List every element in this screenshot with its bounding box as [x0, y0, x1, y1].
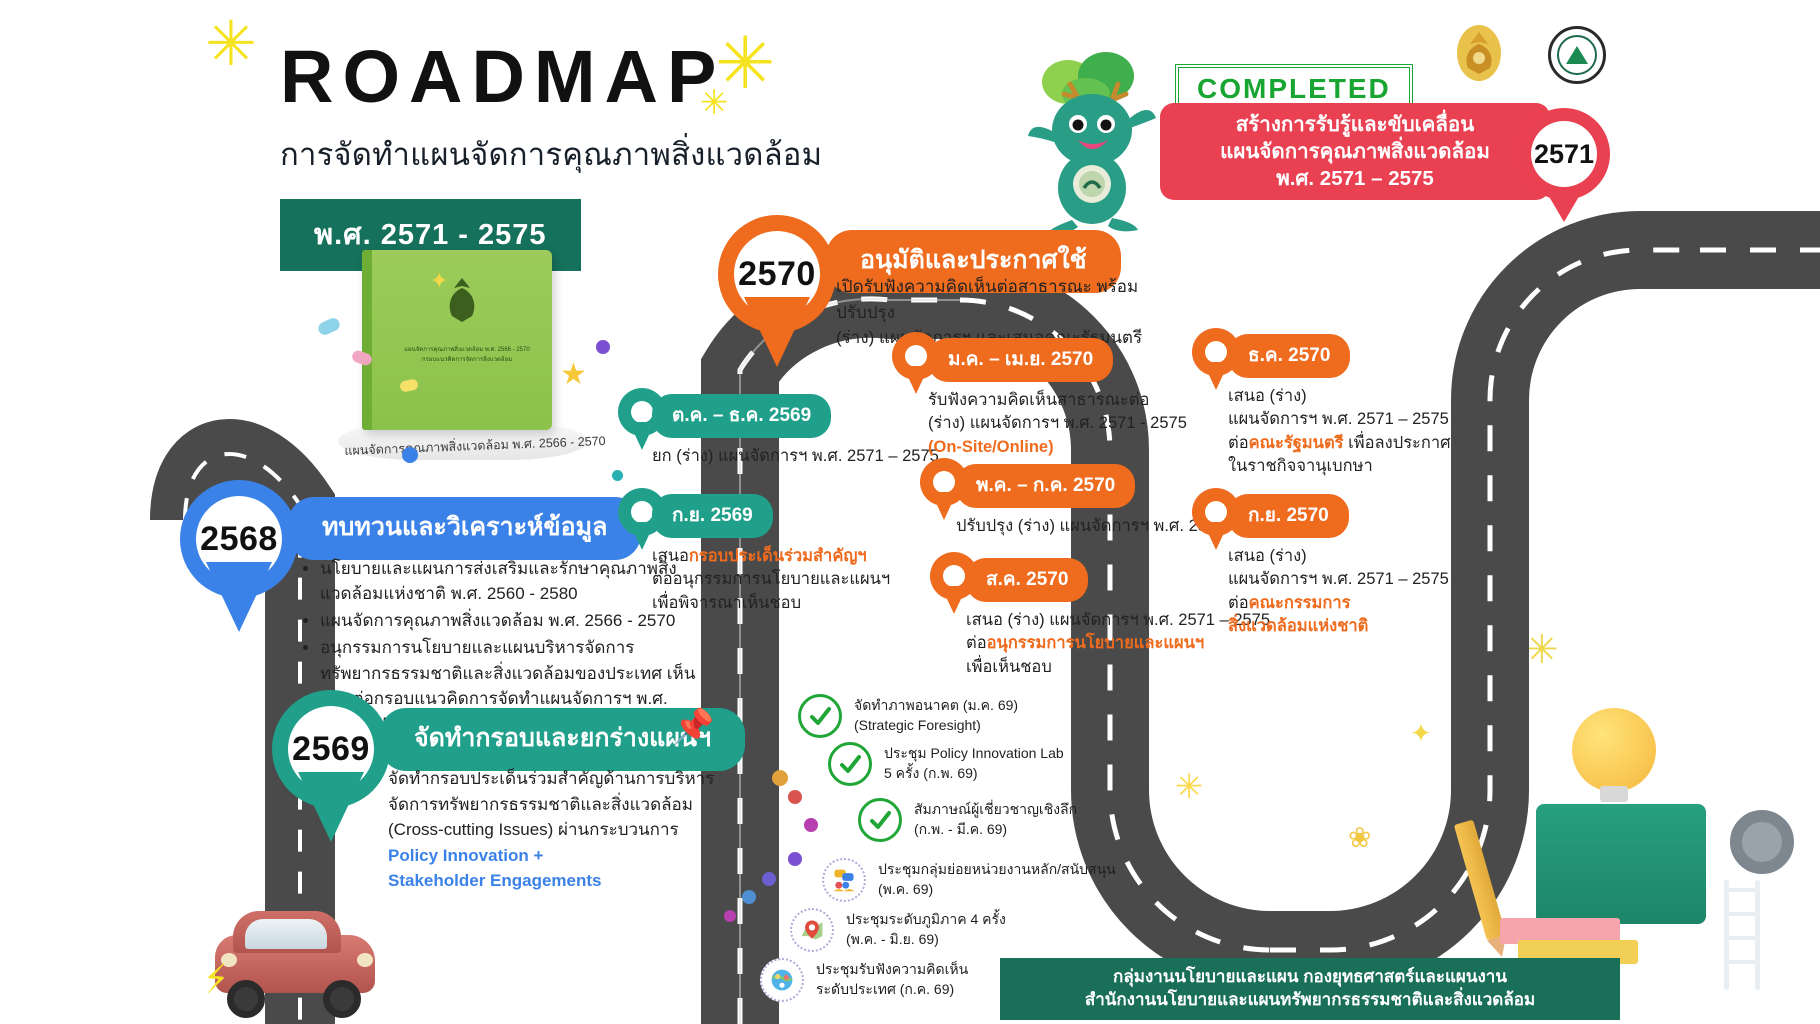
confetti-dot [724, 910, 736, 922]
checklist-line1: ประชุมรับฟังความคิดเห็น [816, 960, 968, 980]
garuda-seal-icon [1448, 22, 1510, 84]
checklist-line2: (พ.ค. - มิ.ย. 69) [846, 930, 1006, 950]
globe-people-icon [760, 958, 804, 1002]
list-item: แผนจัดการคุณภาพสิ่งแวดล้อม พ.ศ. 2566 - 2… [320, 608, 700, 633]
checklist-line2: (ก.พ. - มี.ค. 69) [914, 820, 1077, 840]
milestone-line: รับฟังความคิดเห็นสาธารณะต่อ [928, 389, 1228, 412]
year-2569-body-line1: จัดทำกรอบประเด็นร่วมสำคัญด้านการบริหาร [388, 766, 718, 792]
milestone-line: แผนจัดการฯ พ.ศ. 2571 – 2575 [1228, 408, 1488, 431]
checklist-line2: (Strategic Foresight) [854, 716, 1018, 736]
map-pin-icon [790, 908, 834, 952]
milestone-line-highlight: (On-Site/Online) [928, 436, 1228, 459]
milestone-chip: ส.ค. 2570 [966, 558, 1088, 602]
milestone-chip: ต.ค. – ธ.ค. 2569 [652, 394, 831, 438]
year-2569-highlight1: Policy Innovation + [388, 843, 718, 869]
lightbulb-icon [1572, 708, 1656, 792]
milestone-line: ต่อ [966, 634, 987, 652]
pin-2571: 2571 [1518, 108, 1610, 200]
milestone-line: เสนอ [652, 547, 689, 565]
milestone-line: เสนอ (ร่าง) [1228, 545, 1478, 568]
check-icon [828, 742, 872, 786]
confetti-dot [742, 890, 756, 904]
footer-line2: สำนักงานนโยบายและแผนทรัพยากรธรรมชาติและส… [1085, 989, 1535, 1012]
star-icon: ✦ [430, 270, 448, 292]
book-cover-text: แผนจัดการคุณภาพสิ่งแวดล้อม พ.ศ. 2566 - 2… [400, 346, 534, 365]
milestone-chip: ม.ค. – เม.ย. 2570 [928, 338, 1113, 382]
milestone-line-highlight: อนุกรรมการนโยบายและแผนฯ [987, 634, 1205, 652]
checklist-line1: ประชุมระดับภูมิภาค 4 ครั้ง [846, 910, 1006, 930]
car-icon: ⚡ [205, 905, 390, 1020]
confetti-dot [788, 852, 802, 866]
milestone-line: ต่อ [1228, 594, 1249, 612]
book-cover: แผนจัดการคุณภาพสิ่งแวดล้อม พ.ศ. 2566 - 2… [362, 250, 552, 430]
milestone-line: แผนจัดการฯ พ.ศ. 2571 – 2575 [1228, 568, 1478, 591]
footer-bar: กลุ่มงานนโยบายและแผน กองยุทธศาสตร์และแผน… [1000, 958, 1620, 1020]
checklist-line2: ระดับประเทศ (ก.ค. 69) [816, 980, 968, 1000]
checklist-line1: จัดทำภาพอนาคต (ม.ค. 69) [854, 696, 1018, 716]
milestone-chip: ก.ย. 2570 [1228, 494, 1349, 538]
milestone-chip: พ.ค. – ก.ค. 2570 [956, 464, 1135, 508]
mascot-icon [1020, 48, 1160, 233]
year-2570-body-line1: เปิดรับฟังความคิดเห็นต่อสาธารณะ พร้อมปรั… [836, 274, 1176, 325]
checklist-item: ประชุมระดับภูมิภาค 4 ครั้ง (พ.ค. - มิ.ย.… [790, 908, 1006, 952]
page-subtitle: การจัดทำแผนจัดการคุณภาพสิ่งแวดล้อม [280, 129, 822, 179]
footer-line1: กลุ่มงานนโยบายและแผน กองยุทธศาสตร์และแผน… [1113, 966, 1507, 989]
flower-icon: ❀ [1348, 824, 1371, 852]
year-2569-body-line3: (Cross-cutting Issues) ผ่านกระบวนการ [388, 817, 718, 843]
banner-2571-line2: แผนจัดการคุณภาพสิ่งแวดล้อม [1220, 138, 1490, 165]
onep-seal-icon [1548, 26, 1606, 84]
confetti-dot [596, 340, 610, 354]
stationery-illustration [1440, 700, 1800, 1000]
ladder-icon [1724, 880, 1760, 990]
milestone-chip: ก.ย. 2569 [652, 494, 773, 538]
checklist-item: สัมภาษณ์ผู้เชี่ยวชาญเชิงลึก (ก.พ. - มี.ค… [858, 798, 1077, 842]
pencil-icon [1454, 820, 1506, 941]
milestone-line: ต่อ [1228, 434, 1249, 452]
list-item: นโยบายและแผนการส่งเสริมและรักษาคุณภาพสิ่… [320, 556, 700, 606]
green-box [1536, 804, 1706, 924]
pin-2571-year: 2571 [1531, 121, 1597, 187]
milestone-line-highlight: สิ่งแวดล้อมแห่งชาติ [1228, 615, 1478, 638]
star-icon: ★ [560, 360, 587, 390]
sparkle-icon: ✦ [1410, 720, 1432, 746]
confetti-dot [612, 470, 623, 481]
milestone-line: ต่ออนุกรรมการนโยบายและแผนฯ [652, 568, 912, 591]
confetti-dot [402, 447, 418, 463]
pushpin-icon: 📌 [672, 710, 714, 744]
check-icon [858, 798, 902, 842]
book-illustration: แผนจัดการคุณภาพสิ่งแวดล้อม พ.ศ. 2566 - 2… [330, 240, 620, 470]
year-2569-body: จัดทำกรอบประเด็นร่วมสำคัญด้านการบริหาร จ… [388, 766, 718, 894]
year-pin-2568: 2568 [180, 480, 298, 598]
banner-2571-line1: สร้างการรับรู้และขับเคลื่อน [1236, 111, 1474, 138]
checklist-line2: 5 ครั้ง (ก.พ. 69) [884, 764, 1064, 784]
milestone-dec-2570: ธ.ค. 2570 เสนอ (ร่าง) แผนจัดการฯ พ.ศ. 25… [1228, 334, 1488, 479]
milestone-line: เพื่อเห็นชอบ [966, 656, 1296, 679]
milestone-line-highlight: คณะรัฐมนตรี [1249, 434, 1344, 452]
checklist-item: จัดทำภาพอนาคต (ม.ค. 69) (Strategic Fores… [798, 694, 1018, 738]
milestone-line: เสนอ (ร่าง) [1228, 385, 1488, 408]
milestone-sep-2569: ก.ย. 2569 เสนอกรอบประเด็นร่วมสำคัญฯ ต่ออ… [652, 494, 912, 615]
gear-icon [1730, 810, 1794, 874]
year-2569-highlight2: Stakeholder Engagements [388, 868, 718, 894]
page-title: ROADMAP [280, 34, 822, 119]
year-2568-chip: ทบทวนและวิเคราะห์ข้อมูล [288, 497, 641, 560]
milestone-line-highlight: คณะกรรมการ [1249, 594, 1351, 612]
checklist-line1: ประชุม Policy Innovation Lab [884, 744, 1064, 764]
confetti-dot [788, 790, 802, 804]
milestone-line-highlight: กรอบประเด็นร่วมสำคัญฯ [689, 547, 867, 565]
milestone-line: เพื่อพิจารณาเห็นชอบ [652, 592, 912, 615]
checklist-item: ประชุมกลุ่มย่อยหน่วยงานหลัก/สนับสนุน (พ.… [822, 858, 1116, 902]
banner-2571: สร้างการรับรู้และขับเคลื่อน แผนจัดการคุณ… [1160, 103, 1550, 200]
checklist-line1: ประชุมกลุ่มย่อยหน่วยงานหลัก/สนับสนุน [878, 860, 1116, 880]
checklist-item: ประชุม Policy Innovation Lab 5 ครั้ง (ก.… [828, 742, 1064, 786]
banner-2571-line3: พ.ศ. 2571 – 2575 [1276, 165, 1434, 192]
group-chat-icon [822, 858, 866, 902]
confetti-dot [804, 818, 818, 832]
milestone-jan-apr-2570: ม.ค. – เม.ย. 2570 รับฟังความคิดเห็นสาธาร… [928, 338, 1228, 459]
milestone-line-tail: เพื่อลงประกาศ [1344, 434, 1451, 452]
checklist-line1: สัมภาษณ์ผู้เชี่ยวชาญเชิงลึก [914, 800, 1077, 820]
milestone-chip: ธ.ค. 2570 [1228, 334, 1350, 378]
milestone-line: ในราชกิจจานุเบกษา [1228, 455, 1488, 478]
check-icon [798, 694, 842, 738]
confetti-dot [762, 872, 776, 886]
infographic-root: ✳ ✳ ✳ ✳ ✳ ROADMAP การจัดทำแผนจัดการคุณภา… [0, 0, 1820, 1024]
milestone-line: ยก (ร่าง) แผนจัดการฯ พ.ศ. 2571 – 2575 [652, 445, 952, 468]
year-pin-2570: 2570 [718, 215, 836, 333]
year-2569-body-line2: จัดการทรัพยากรธรรมชาติและสิ่งแวดล้อม [388, 792, 718, 818]
milestone-line: (ร่าง) แผนจัดการฯ พ.ศ. 2571 - 2575 [928, 412, 1228, 435]
confetti-dot [772, 770, 788, 786]
checklist-item: ประชุมรับฟังความคิดเห็น ระดับประเทศ (ก.ค… [760, 958, 968, 1002]
year-pin-2569: 2569 [272, 690, 390, 808]
milestone-sep-2570: ก.ย. 2570 เสนอ (ร่าง) แผนจัดการฯ พ.ศ. 25… [1228, 494, 1478, 639]
checklist-line2: (พ.ค. 69) [878, 880, 1116, 900]
milestone-oct-dec-2569: ต.ค. – ธ.ค. 2569 ยก (ร่าง) แผนจัดการฯ พ.… [652, 394, 952, 468]
